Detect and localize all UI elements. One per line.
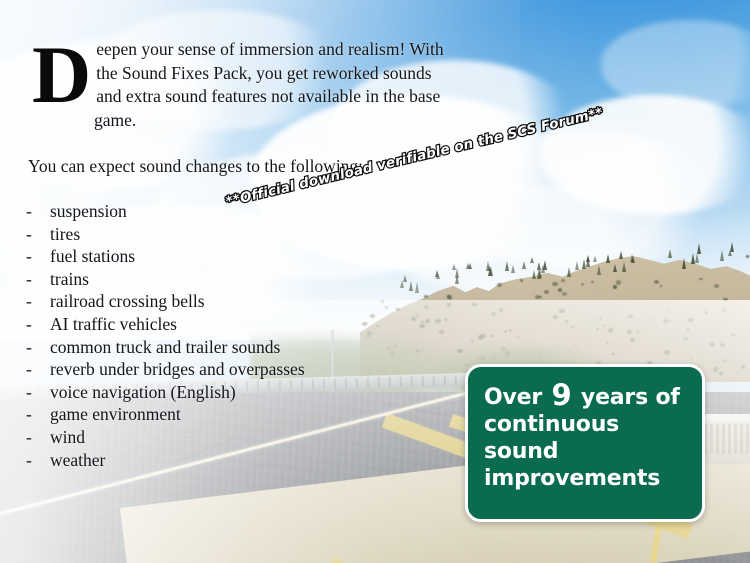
feature-list-item: -common truck and trailer sounds [26, 336, 305, 359]
feature-label: tires [50, 224, 80, 244]
bullet-dash: - [26, 223, 50, 246]
feature-list-item: -fuel stations [26, 245, 305, 268]
sign-line3: sound [484, 439, 558, 464]
feature-list-item: -AI traffic vehicles [26, 313, 305, 336]
highway-sign: Over 9 years of continuous sound improve… [465, 364, 705, 522]
overlay-content: D eepen your sense of immersion and real… [0, 0, 750, 563]
bullet-dash: - [26, 403, 50, 426]
highway-sign-text: Over 9 years of continuous sound improve… [484, 384, 690, 492]
feature-label: reverb under bridges and overpasses [50, 359, 305, 379]
feature-list-item: -wind [26, 426, 305, 449]
bullet-dash: - [26, 200, 50, 223]
feature-list-item: -voice navigation (English) [26, 381, 305, 404]
feature-label: AI traffic vehicles [50, 314, 177, 334]
intro-paragraph: eepen your sense of immersion and realis… [28, 38, 448, 132]
feature-list-item: -weather [26, 449, 305, 472]
feature-label: railroad crossing bells [50, 291, 205, 311]
bullet-dash: - [26, 313, 50, 336]
feature-label: fuel stations [50, 246, 135, 266]
feature-list-item: -trains [26, 268, 305, 291]
bullet-dash: - [26, 358, 50, 381]
feature-list-item: -suspension [26, 200, 305, 223]
feature-label: voice navigation (English) [50, 382, 236, 402]
sign-line1-before: Over [484, 385, 549, 410]
feature-label: game environment [50, 404, 181, 424]
bullet-dash: - [26, 245, 50, 268]
feature-list: -suspension-tires-fuel stations-trains-r… [26, 200, 305, 471]
bullet-dash: - [26, 336, 50, 359]
bullet-dash: - [26, 290, 50, 313]
sign-line2: continuous [484, 412, 619, 437]
feature-list-item: -reverb under bridges and overpasses [26, 358, 305, 381]
feature-label: trains [50, 269, 89, 289]
feature-label: common truck and trailer sounds [50, 337, 280, 357]
intro-paragraph-block: D eepen your sense of immersion and real… [28, 38, 448, 132]
feature-label: suspension [50, 201, 127, 221]
bullet-dash: - [26, 268, 50, 291]
feature-list-item: -tires [26, 223, 305, 246]
bullet-dash: - [26, 426, 50, 449]
bullet-dash: - [26, 449, 50, 472]
promo-image: D eepen your sense of immersion and real… [0, 0, 750, 563]
feature-list-item: -railroad crossing bells [26, 290, 305, 313]
drop-cap: D [32, 42, 90, 108]
feature-label: weather [50, 450, 105, 470]
sign-line1-after: years of [573, 385, 679, 410]
bullet-dash: - [26, 381, 50, 404]
sign-years-number: 9 [549, 378, 573, 412]
sign-line4: improvements [484, 466, 660, 491]
feature-label: wind [50, 427, 85, 447]
feature-list-item: -game environment [26, 403, 305, 426]
